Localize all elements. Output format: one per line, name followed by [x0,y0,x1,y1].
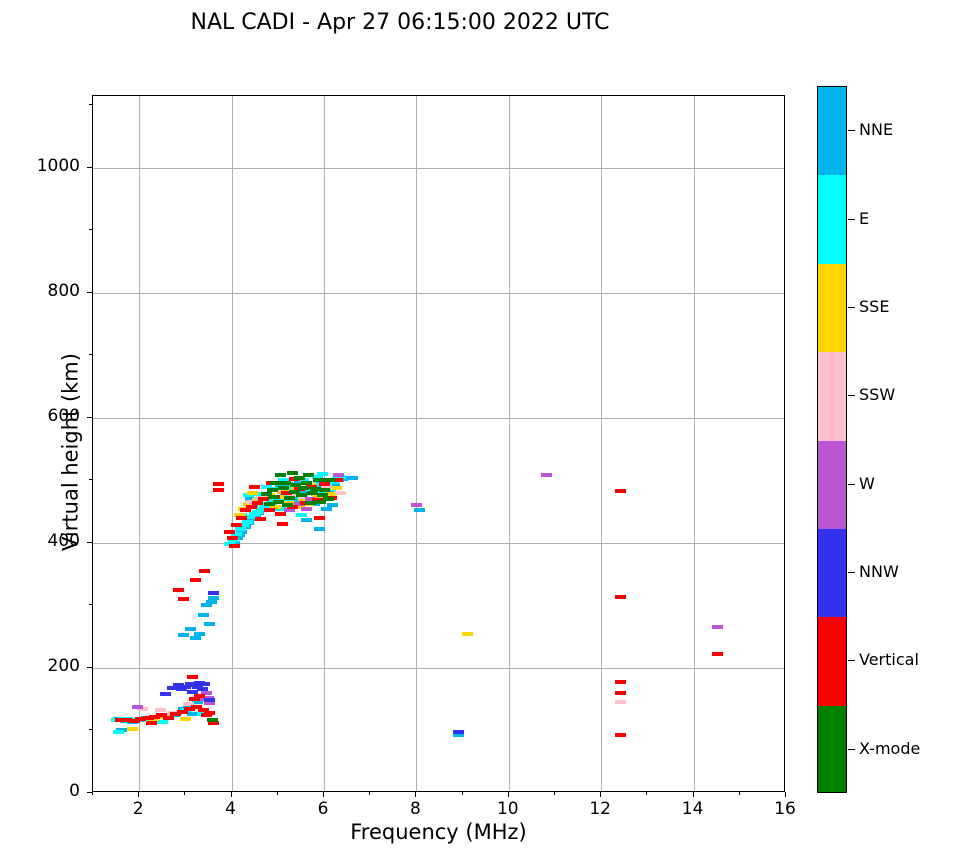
gridline-horizontal [93,668,784,669]
data-point [541,473,552,477]
data-point [227,536,238,540]
x-tick-minor [369,792,370,795]
colorbar-tick [848,660,855,661]
x-tick-label: 2 [108,799,168,819]
colorbar-label-w: W [859,474,875,493]
colorbar-tick [848,130,855,131]
data-point [246,505,257,509]
data-point [278,486,289,490]
data-point [163,716,174,720]
data-point [453,730,464,734]
data-point [207,718,218,722]
gridline-vertical [324,96,325,791]
data-point [113,730,124,734]
y-tick-minor [89,479,92,480]
colorbar-segment-nnw[interactable] [818,529,846,617]
data-point [213,482,224,486]
ionogram-figure: NAL CADI - Apr 27 06:15:00 2022 UTC 2468… [0,0,958,857]
data-point [347,476,358,480]
colorbar-tick [848,307,855,308]
colorbar-tick [848,749,855,750]
data-point [146,721,157,725]
data-point [173,588,184,592]
gridline-horizontal [93,418,784,419]
data-point [335,491,346,495]
colorbar-tick [848,572,855,573]
data-point [317,493,328,497]
data-point [127,727,138,731]
x-tick-mark [600,792,601,797]
data-point [712,625,723,629]
data-point [615,700,626,704]
data-point [615,691,626,695]
data-point [185,627,196,631]
y-tick-mark [87,417,92,418]
data-point [301,518,312,522]
x-tick-mark [415,792,416,797]
data-point [275,512,286,516]
data-point [327,503,338,507]
x-tick-mark [231,792,232,797]
x-tick-label: 10 [478,799,538,819]
gridline-vertical [232,96,233,791]
data-point [176,687,187,691]
data-point [301,481,312,485]
data-point [296,493,307,497]
data-point [267,488,278,492]
data-point [199,569,210,573]
gridline-vertical [139,96,140,791]
data-point [236,516,247,520]
x-tick-label: 8 [385,799,445,819]
data-point [180,717,191,721]
y-tick-mark [87,667,92,668]
x-tick-label: 4 [201,799,261,819]
y-tick-mark [87,792,92,793]
gridline-vertical [694,96,695,791]
x-tick-mark [508,792,509,797]
x-tick-label: 16 [755,799,815,819]
colorbar-label-x-mode: X-mode [859,739,920,758]
y-tick-mark [87,542,92,543]
y-tick-minor [89,104,92,105]
plot-area [92,95,785,792]
x-tick-minor [92,792,93,795]
data-point [317,472,328,476]
data-point [192,685,203,689]
data-point [282,503,293,507]
data-point [249,485,260,489]
data-point [268,495,279,499]
x-tick-label: 14 [663,799,723,819]
data-point [235,527,246,531]
x-tick-label: 12 [570,799,630,819]
x-tick-minor [462,792,463,795]
data-point [289,490,300,494]
data-point [231,523,242,527]
colorbar-label-vertical: Vertical [859,650,919,669]
data-point [275,473,286,477]
data-point [296,513,307,517]
y-tick-minor [89,604,92,605]
data-point [303,473,314,477]
data-point [287,471,298,475]
colorbar-tick [848,219,855,220]
x-axis-label: Frequency (MHz) [92,820,785,844]
colorbar-segment-x-mode[interactable] [818,706,846,793]
data-point [213,488,224,492]
x-tick-mark [785,792,786,797]
y-tick-minor [89,729,92,730]
colorbar-label-sse: SSE [859,297,889,316]
data-point [208,591,219,595]
data-point [264,502,275,506]
colorbar-segment-vertical[interactable] [818,617,846,705]
data-point [240,508,251,512]
page-title: NAL CADI - Apr 27 06:15:00 2022 UTC [0,10,800,35]
data-point [615,489,626,493]
data-point [206,600,217,604]
data-point [323,497,334,501]
data-point [615,595,626,599]
colorbar-segment-sse[interactable] [818,264,846,352]
data-point [301,507,312,511]
data-point [411,503,422,507]
colorbar-tick [848,395,855,396]
x-tick-mark [138,792,139,797]
gridline-vertical [601,96,602,791]
data-point [615,680,626,684]
x-tick-minor [739,792,740,795]
y-tick-mark [87,167,92,168]
data-point [224,530,235,534]
data-point [229,544,240,548]
data-point [252,501,263,505]
y-tick-mark [87,292,92,293]
data-point [178,633,189,637]
data-point [190,636,201,640]
data-point [204,622,215,626]
y-axis-label: Virtual height (km) [59,104,83,801]
colorbar-segment-ssw[interactable] [818,352,846,440]
data-point [712,652,723,656]
data-point [314,527,325,531]
data-point [247,491,258,495]
data-point [314,516,325,520]
data-point [190,578,201,582]
data-point [155,708,166,712]
data-point [319,482,330,486]
x-tick-mark [323,792,324,797]
x-tick-minor [554,792,555,795]
gridline-vertical [509,96,510,791]
colorbar-segment-e[interactable] [818,175,846,263]
data-point [255,517,266,521]
colorbar[interactable] [817,86,847,793]
data-point [264,508,275,512]
gridline-horizontal [93,293,784,294]
data-point [333,473,344,477]
colorbar-segment-w[interactable] [818,441,846,529]
data-point [284,496,295,500]
data-point [189,697,200,701]
data-point [178,597,189,601]
data-point [280,481,291,485]
colorbar-label-ssw: SSW [859,385,895,404]
data-point [204,698,215,702]
colorbar-tick [848,484,855,485]
data-point [324,478,335,482]
data-point [242,520,253,524]
x-tick-minor [184,792,185,795]
colorbar-segment-nne[interactable] [818,87,846,175]
x-tick-label: 6 [293,799,353,819]
gridline-vertical [416,96,417,791]
data-point [277,522,288,526]
data-point [462,632,473,636]
data-point [201,713,212,717]
x-tick-mark [693,792,694,797]
colorbar-label-e: E [859,209,869,228]
y-tick-minor [89,229,92,230]
y-tick-minor [89,354,92,355]
colorbar-label-nne: NNE [859,120,893,139]
data-point [208,596,219,600]
data-point [198,613,209,617]
x-tick-minor [646,792,647,795]
gridline-horizontal [93,543,784,544]
x-tick-minor [277,792,278,795]
data-point [132,705,143,709]
colorbar-label-nnw: NNW [859,562,899,581]
data-point [615,733,626,737]
data-point [160,692,171,696]
data-point [310,487,321,491]
data-point [187,675,198,679]
gridline-horizontal [93,168,784,169]
data-point [414,508,425,512]
